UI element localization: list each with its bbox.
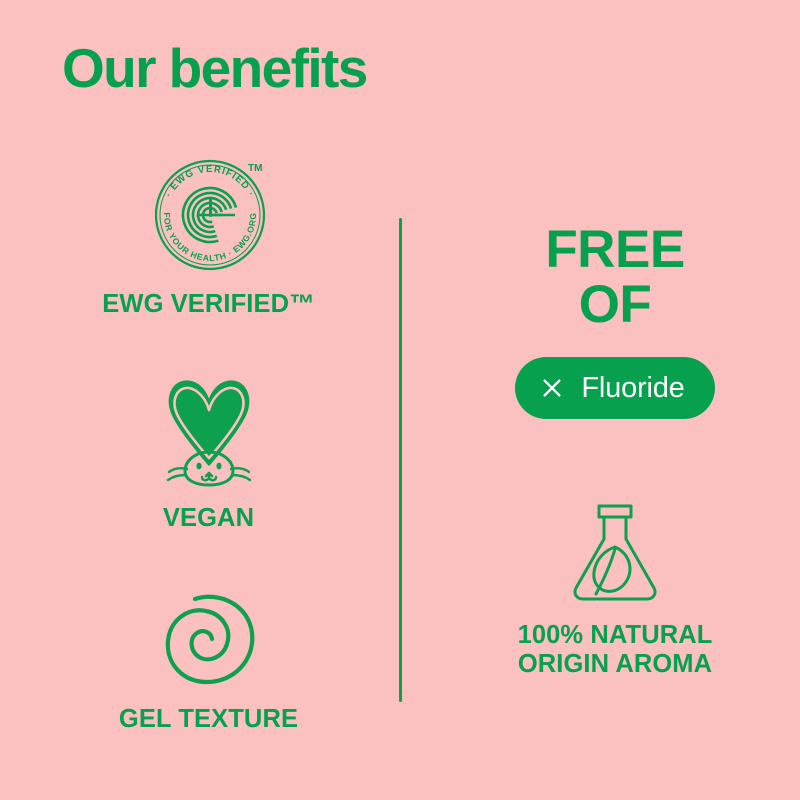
benefit-label-vegan: VEGAN: [163, 504, 254, 534]
benefits-left-column: · EWG VERIFIED · FOR YOUR HEALTH · EWG.O…: [36, 150, 381, 735]
free-of-right-column: FREE OF Fluoride: [430, 222, 800, 679]
gel-swirl-spiral-icon: [157, 587, 261, 691]
benefit-label-gel-texture: GEL TEXTURE: [119, 705, 298, 735]
free-of-pill-fluoride[interactable]: Fluoride: [515, 357, 714, 419]
benefit-ewg-verified: · EWG VERIFIED · FOR YOUR HEALTH · EWG.O…: [36, 152, 381, 320]
close-x-icon: [541, 377, 563, 399]
free-of-line-2: OF: [545, 277, 684, 332]
benefit-gel-texture: GEL TEXTURE: [36, 587, 381, 735]
benefit-label-ewg-verified: EWG VERIFIED™: [102, 290, 314, 320]
benefit-label-natural-origin-aroma: 100% NATURAL ORIGIN AROMA: [518, 621, 713, 679]
column-divider: [399, 218, 402, 702]
flask-leaf-icon: [563, 495, 667, 605]
page-title: Our benefits: [62, 40, 367, 98]
aroma-label-line-2: ORIGIN AROMA: [518, 650, 713, 679]
benefits-panel: Our benefits · EWG VERIFIED ·: [0, 0, 800, 800]
benefit-natural-origin-aroma: 100% NATURAL ORIGIN AROMA: [430, 495, 800, 679]
pill-label-fluoride: Fluoride: [581, 372, 684, 405]
benefit-vegan: VEGAN: [36, 370, 381, 534]
cruelty-free-rabbit-heart-icon: [151, 370, 267, 490]
free-of-heading: FREE OF: [545, 222, 684, 332]
svg-text:TM: TM: [248, 163, 262, 174]
free-of-line-1: FREE: [545, 222, 684, 277]
ewg-verified-seal-icon: · EWG VERIFIED · FOR YOUR HEALTH · EWG.O…: [147, 152, 271, 276]
aroma-label-line-1: 100% NATURAL: [518, 621, 713, 650]
